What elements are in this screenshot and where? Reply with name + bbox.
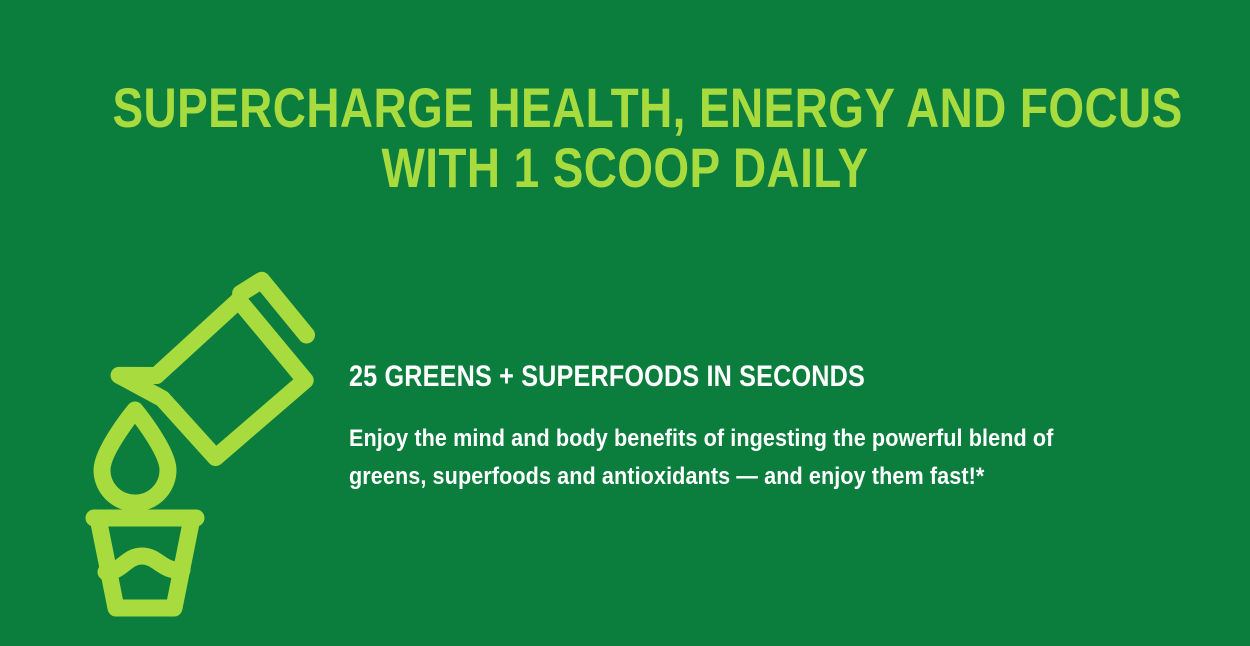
pitcher-pouring-into-glass-icon — [80, 260, 330, 620]
headline: SUPERCHARGE HEALTH, ENERGY AND FOCUS WIT… — [0, 78, 1250, 198]
headline-line-1: SUPERCHARGE HEALTH, ENERGY AND FOCUS — [113, 78, 1138, 138]
promo-banner: SUPERCHARGE HEALTH, ENERGY AND FOCUS WIT… — [0, 0, 1250, 646]
headline-line-2: WITH 1 SCOOP DAILY — [113, 138, 1138, 198]
feature-row: 25 GREENS + SUPERFOODS IN SECONDS Enjoy … — [0, 255, 1250, 625]
feature-text-block: 25 GREENS + SUPERFOODS IN SECONDS Enjoy … — [349, 360, 1149, 496]
feature-body-text: Enjoy the mind and body benefits of inge… — [349, 420, 1069, 496]
feature-heading: 25 GREENS + SUPERFOODS IN SECONDS — [349, 360, 1021, 394]
